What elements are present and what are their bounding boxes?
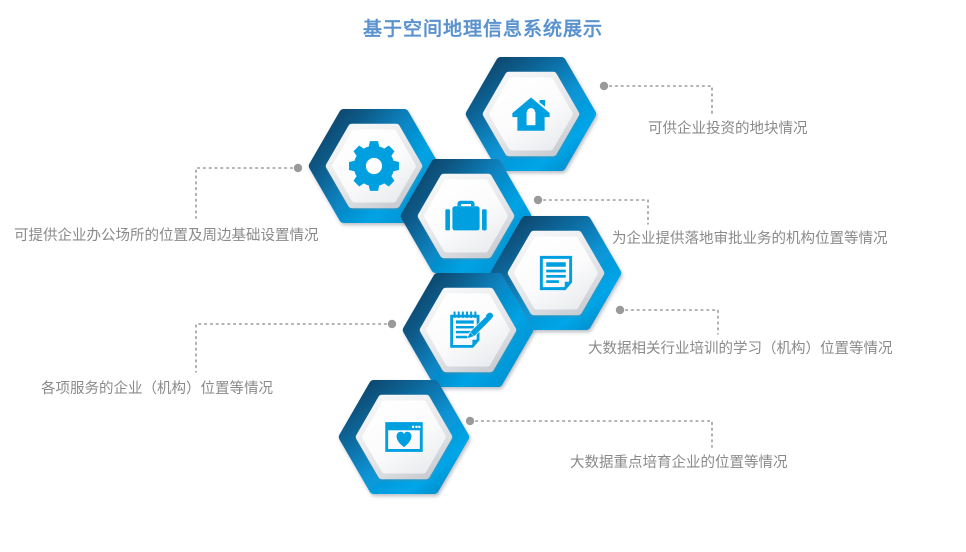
- connector-dot-left-2: [388, 320, 396, 328]
- infographic-canvas: 基于空间地理信息系统展示: [0, 0, 966, 552]
- caption-right-2: 为企业提供落地审批业务的机构位置等情况: [612, 231, 888, 248]
- connector-dot-right-1: [600, 82, 608, 90]
- connector-dot-right-3: [616, 306, 624, 314]
- gear-icon: [349, 141, 399, 191]
- caption-left-1: 可提供企业办公场所的位置及周边基础设置情况: [14, 228, 319, 245]
- caption-right-4: 大数据重点培育企业的位置等情况: [570, 455, 788, 472]
- connector-left-1: [196, 168, 298, 218]
- hex-node-house[interactable]: [471, 62, 592, 167]
- hexagon-cluster-graphic: [0, 0, 966, 552]
- hex-node-browser[interactable]: [344, 385, 465, 490]
- connector-right-3: [620, 310, 718, 334]
- caption-right-1: 可供企业投资的地块情况: [648, 121, 808, 138]
- connector-dot-left-1: [294, 164, 302, 172]
- caption-right-3: 大数据相关行业培训的学习（机构）位置等情况: [588, 341, 893, 358]
- connector-dot-right-2: [534, 196, 542, 204]
- connector-right-1: [604, 86, 712, 113]
- hex-node-notepad[interactable]: [408, 278, 529, 383]
- caption-left-2: 各项服务的企业（机构）位置等情况: [41, 381, 273, 398]
- connector-dot-right-4: [466, 417, 474, 425]
- connector-left-2: [196, 324, 392, 372]
- connector-right-4: [470, 421, 712, 447]
